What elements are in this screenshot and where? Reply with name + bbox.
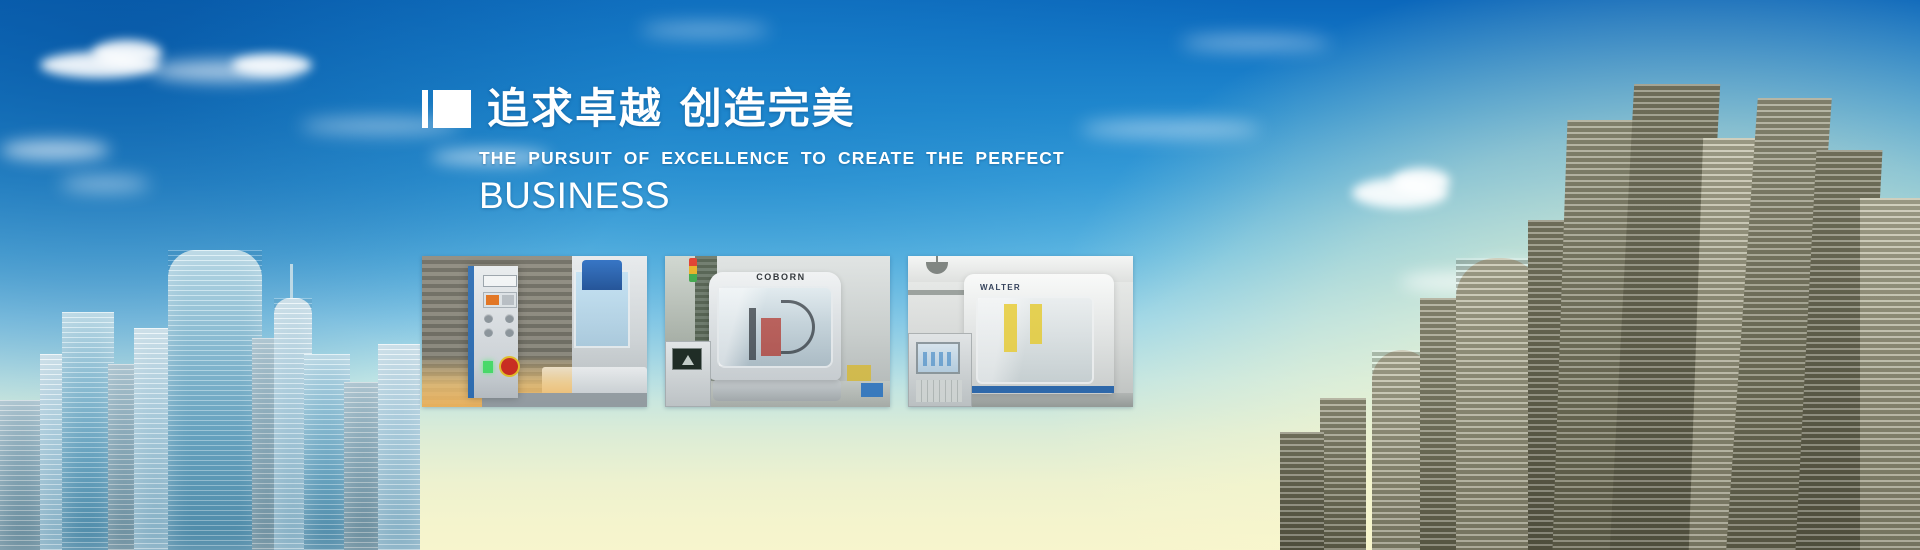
machine-photo-3[interactable]: WALTER [908,256,1133,407]
skyline-left [0,120,420,550]
tagline-english: THE PURSUIT OF EXCELLENCE TO CREATE THE … [479,148,1142,169]
machine-photo-2[interactable]: COBORN [665,256,890,407]
wordmark-business: BUSINESS [479,177,1142,216]
bar-square-mark-icon [422,90,471,128]
machine-brand-label-walter: WALTER [980,283,1090,292]
hero-banner: 追求卓越 创造完美 THE PURSUIT OF EXCELLENCE TO C… [0,0,1920,550]
product-photo-strip: COBORN WALTER [422,256,1133,407]
headline-block: 追求卓越 创造完美 THE PURSUIT OF EXCELLENCE TO C… [422,88,1142,216]
machine-brand-label-coborn: COBORN [733,272,829,282]
headline-chinese: 追求卓越 创造完美 [487,88,856,130]
headline-row: 追求卓越 创造完美 [422,88,1142,130]
machine-photo-1[interactable] [422,256,647,407]
skyline-right [1260,70,1920,550]
